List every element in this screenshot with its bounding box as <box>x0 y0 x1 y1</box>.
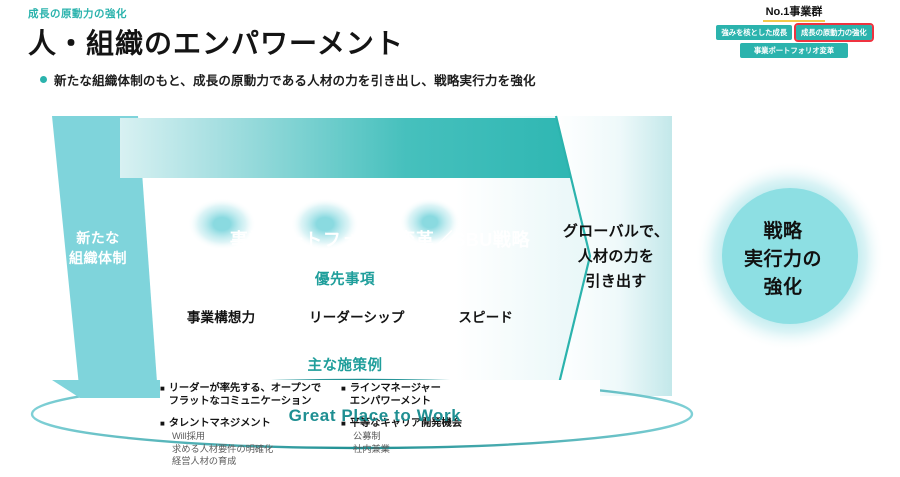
square-bullet-icon: ■ <box>160 382 165 395</box>
measure-sub: 求める人材要件の明確化 <box>172 443 329 456</box>
measure-sub: 経営人材の育成 <box>172 455 329 468</box>
mid-arrow-line-2: 人材の力を <box>578 248 655 265</box>
left-block-line-2: 組織体制 <box>69 250 127 266</box>
square-bullet-icon: ■ <box>160 417 165 430</box>
measure-head: ■ リーダーが率先する、オープンで フラットなコミュニケーション <box>160 382 329 408</box>
measure-head-line-1: ラインマネージャー <box>350 382 441 395</box>
left-block-line-1: 新たな <box>76 230 120 246</box>
result-line-2: 実行力の <box>744 249 822 270</box>
page-title: 人・組織のエンパワーメント <box>28 22 404 62</box>
nav-chip-row-1: 強みを核とした成長 成長の原動力の強化 <box>696 25 892 40</box>
measures-grid: ■ リーダーが率先する、オープンで フラットなコミュニケーション ■ タレントマ… <box>160 382 510 477</box>
priority-item-3: スピード <box>458 306 513 326</box>
square-bullet-icon: ■ <box>341 382 346 395</box>
result-label: 戦略 実行力の 強化 <box>718 218 848 302</box>
slide-root: 成長の原動力の強化 人・組織のエンパワーメント 新たな組織体制のもと、成長の原動… <box>0 0 900 460</box>
nav-chip-growth-driver-active[interactable]: 成長の原動力の強化 <box>796 25 872 40</box>
priority-row: 事業構想力 リーダーシップ スピード <box>160 306 540 326</box>
priority-item-1: 事業構想力 <box>187 306 256 326</box>
measure-head-text: ラインマネージャー エンパワーメント <box>350 382 441 408</box>
measure-head-line-1: リーダーが率先する、オープンで <box>169 382 321 395</box>
priority-heading: 優先事項 <box>195 268 495 289</box>
nav-chip-row-2: 事業ポートフォリオ変革 <box>696 43 892 58</box>
eyebrow-label: 成長の原動力の強化 <box>28 6 127 21</box>
measures-column-left: ■ リーダーが率先する、オープンで フラットなコミュニケーション ■ タレントマ… <box>160 382 329 477</box>
bullet-dot-icon <box>40 76 47 83</box>
measure-sub: 社内兼業 <box>353 443 510 456</box>
subtitle-text: 新たな組織体制のもと、成長の原動力である人材の力を引き出し、戦略実行力を強化 <box>54 70 536 89</box>
measure-sub: 公募制 <box>353 430 510 443</box>
mid-arrow-label: グローバルで、 人材の力を 引き出す <box>556 219 676 294</box>
nav-chip-strength-growth[interactable]: 強みを核とした成長 <box>716 25 792 40</box>
footer-label: Great Place to Work <box>200 406 550 426</box>
measure-item: ■ リーダーが率先する、オープンで フラットなコミュニケーション <box>160 382 329 408</box>
diagram: 新たな 組織体制 事業ポートフォリオ変革／SBU戦略 優先事項 事業構想力 リー… <box>0 96 900 460</box>
measures-heading: 主な施策例 <box>195 354 495 375</box>
measure-head: ■ ラインマネージャー エンパワーメント <box>341 382 510 408</box>
nav-chip-portfolio-reform[interactable]: 事業ポートフォリオ変革 <box>740 43 848 58</box>
mid-arrow-line-1: グローバルで、 <box>563 223 669 240</box>
result-line-1: 戦略 <box>763 221 802 242</box>
measure-sub: Will採用 <box>172 430 329 443</box>
mid-arrow-line-3: 引き出す <box>585 273 646 290</box>
priority-item-2: リーダーシップ <box>309 306 405 326</box>
measure-item: ■ ラインマネージャー エンパワーメント <box>341 382 510 408</box>
banner-label: 事業ポートフォリオ変革／SBU戦略 <box>160 226 600 252</box>
subtitle-row: 新たな組織体制のもと、成長の原動力である人材の力を引き出し、戦略実行力を強化 <box>40 70 536 89</box>
nav-title: No.1事業群 <box>763 6 826 22</box>
left-block-label: 新たな 組織体制 <box>49 228 147 268</box>
result-line-3: 強化 <box>763 277 802 298</box>
section-nav: No.1事業群 強みを核とした成長 成長の原動力の強化 事業ポートフォリオ変革 <box>696 2 892 58</box>
measure-head-text: リーダーが率先する、オープンで フラットなコミュニケーション <box>169 382 321 408</box>
measures-column-right: ■ ラインマネージャー エンパワーメント ■ 平等なキャリア開発機会 <box>341 382 510 477</box>
